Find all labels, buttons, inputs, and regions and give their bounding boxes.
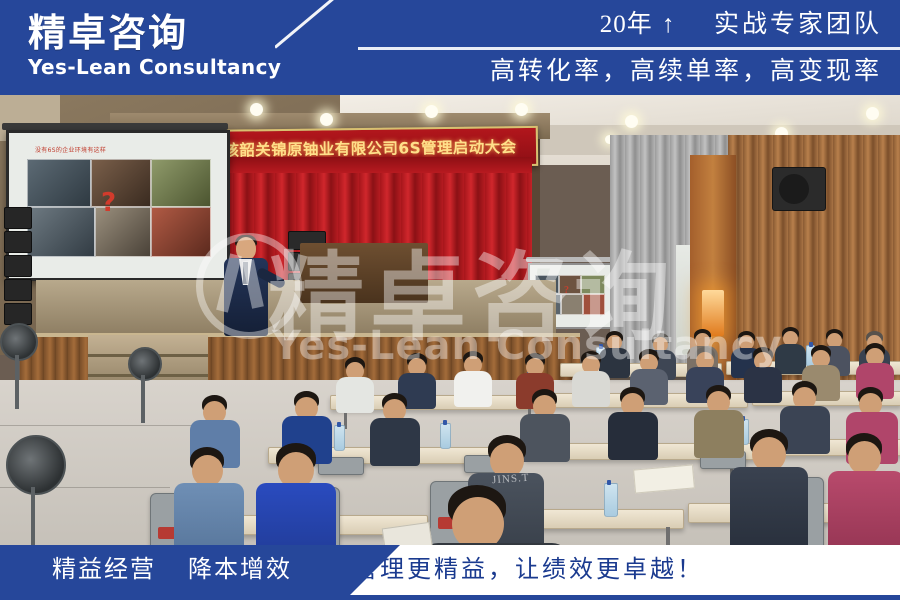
- ceiling-light: [250, 103, 263, 116]
- podium: [300, 243, 428, 303]
- slide-photo: [27, 159, 91, 207]
- water-bottle: [334, 425, 345, 451]
- slide-photo: [583, 294, 605, 315]
- brand-logo-chinese: 精卓咨询: [28, 12, 278, 54]
- ceiling-light: [425, 105, 438, 118]
- slide-photo: [581, 275, 605, 294]
- presenter: [222, 237, 268, 333]
- slide-photo: [561, 294, 583, 315]
- projection-screen-left-housing: [2, 123, 228, 130]
- event-photo: 中核韶关锦原铀业有限公司6S管理启动大会 没有6S的企业环境有这样 ? ?: [0, 95, 900, 555]
- wall-speaker: [772, 167, 826, 211]
- ceiling-light: [320, 113, 333, 126]
- header-bar: 精卓咨询 Yes-Lean Consultancy 20年 ↑ 实战专家团队 高…: [0, 0, 900, 95]
- projection-screen-right-housing: [526, 257, 612, 262]
- speaker-stack-left: [4, 207, 32, 319]
- slide-photo: [559, 275, 581, 294]
- footer-slogan-left: 精益经营 降本增效: [52, 545, 292, 595]
- footer-slogan-left-b: 降本增效: [188, 557, 292, 583]
- slide-question-mark: ?: [101, 188, 116, 218]
- slide-photo: [151, 207, 211, 257]
- slide-photo: [91, 159, 151, 207]
- ceiling-light: [866, 107, 879, 120]
- slide-question-mark: ?: [564, 285, 569, 296]
- slide-photo: [27, 207, 95, 257]
- projection-screen-left: 没有6S的企业环境有这样 ?: [6, 130, 230, 281]
- presenter-tie: [243, 262, 248, 284]
- footer-bar: 让管理更精益，让绩效更卓越！ 精益经营 降本增效: [0, 545, 900, 600]
- ceiling-light: [625, 115, 638, 128]
- slide-title-text: 没有6S的企业环境有这样: [35, 145, 106, 154]
- water-bottle: [604, 483, 618, 517]
- stage-floor: [36, 280, 556, 340]
- presenter-head: [236, 237, 256, 260]
- poster-canvas: 精卓咨询 Yes-Lean Consultancy 20年 ↑ 实战专家团队 高…: [0, 0, 900, 600]
- footer-bottom-strip: [0, 595, 900, 600]
- slide-photo: [151, 159, 211, 207]
- header-tagline-primary: 20年 ↑ 实战专家团队: [600, 5, 882, 45]
- ceiling-light: [515, 103, 528, 116]
- header-tagline-secondary: 高转化率，高续单率，高变现率: [490, 52, 882, 92]
- footer-slogan-left-a: 精益经营: [52, 557, 156, 583]
- header-tagline-main: 实战专家团队: [714, 11, 882, 38]
- brand-logo: 精卓咨询 Yes-Lean Consultancy: [28, 12, 278, 84]
- header-tagline-years: 20年: [600, 11, 653, 38]
- floor-seam: [0, 425, 200, 426]
- header-horizontal-rule: [358, 47, 900, 50]
- up-arrow-icon: ↑: [662, 11, 678, 38]
- brand-logo-english: Yes-Lean Consultancy: [28, 55, 278, 79]
- water-bottle: [440, 423, 451, 449]
